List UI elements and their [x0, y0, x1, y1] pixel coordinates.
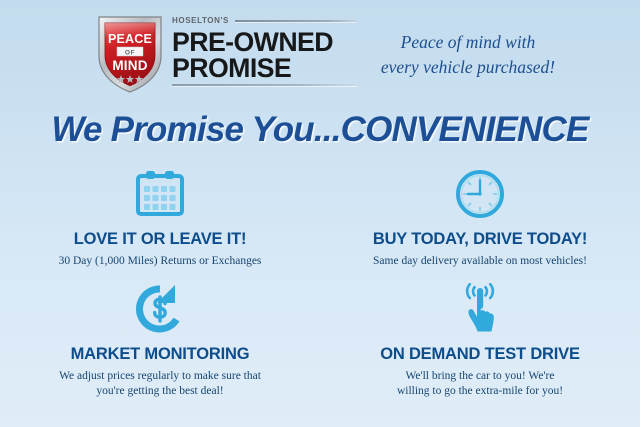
- promise-title-line1: PRE-OWNED: [172, 29, 355, 55]
- brand-top-divider: [235, 20, 357, 22]
- promise-cell-on-demand-test-drive: ON DEMAND TEST DRIVE We'll bring the car…: [320, 279, 640, 399]
- shield-text-mind: MIND: [112, 58, 147, 73]
- shield-icon: PEACE OF MIND: [94, 12, 166, 96]
- tagline: Peace of mind with every vehicle purchas…: [368, 30, 568, 80]
- tagline-line2: every vehicle purchased!: [368, 55, 568, 80]
- promise-description-line: 30 Day (1,000 Miles) Returns or Exchange…: [59, 254, 262, 269]
- promise-grid: LOVE IT OR LEAVE IT! 30 Day (1,000 Miles…: [0, 164, 640, 399]
- peace-of-mind-shield-logo: PEACE OF MIND: [94, 12, 166, 96]
- header: PEACE OF MIND HOSELTON'S PRE-OWNED: [0, 0, 640, 104]
- promise-description-line: willing to go the extra-mile for you!: [397, 384, 563, 399]
- promise-description-line: you're getting the best deal!: [59, 384, 261, 399]
- promise-title-line2: PROMISE: [172, 55, 355, 81]
- promise-title: LOVE IT OR LEAVE IT!: [74, 230, 247, 249]
- promise-description: Same day delivery available on most vehi…: [373, 254, 587, 269]
- promise-description: We adjust prices regularly to make sure …: [59, 369, 261, 399]
- shield-text-of: OF: [125, 49, 135, 56]
- promise-description: 30 Day (1,000 Miles) Returns or Exchange…: [59, 254, 262, 269]
- icon-box: [454, 279, 506, 339]
- promise-description-line: We adjust prices regularly to make sure …: [59, 369, 261, 384]
- icon-box: [134, 164, 186, 224]
- icon-box: [454, 164, 506, 224]
- promise-title: MARKET MONITORING: [71, 345, 250, 364]
- shield-text-peace: PEACE: [108, 32, 152, 46]
- promise-title: ON DEMAND TEST DRIVE: [380, 345, 580, 364]
- brand-bottom-divider: [172, 84, 357, 86]
- promise-cell-love-it-or-leave-it: LOVE IT OR LEAVE IT! 30 Day (1,000 Miles…: [0, 164, 320, 269]
- promise-description: We'll bring the car to you! We're willin…: [397, 369, 563, 399]
- calendar-icon: [134, 169, 186, 219]
- promise-description-line: Same day delivery available on most vehi…: [373, 254, 587, 269]
- tap-hand-icon: [454, 283, 506, 335]
- dollar-refresh-icon: [134, 283, 186, 335]
- promise-description-line: We'll bring the car to you! We're: [397, 369, 563, 384]
- icon-box: [134, 279, 186, 339]
- brand-row: HOSELTON'S: [172, 15, 357, 27]
- clock-icon: [454, 168, 506, 220]
- tagline-line1: Peace of mind with: [368, 30, 568, 55]
- dealer-name: HOSELTON'S: [172, 17, 229, 25]
- page-headline: We Promise You...CONVENIENCE: [0, 110, 640, 150]
- wordmark: HOSELTON'S PRE-OWNED PROMISE: [172, 12, 357, 86]
- promise-cell-market-monitoring: MARKET MONITORING We adjust prices regul…: [0, 279, 320, 399]
- promise-title: BUY TODAY, DRIVE TODAY!: [373, 230, 587, 249]
- logo-block: PEACE OF MIND HOSELTON'S PRE-OWNED: [94, 12, 357, 96]
- promise-cell-buy-today-drive-today: BUY TODAY, DRIVE TODAY! Same day deliver…: [320, 164, 640, 269]
